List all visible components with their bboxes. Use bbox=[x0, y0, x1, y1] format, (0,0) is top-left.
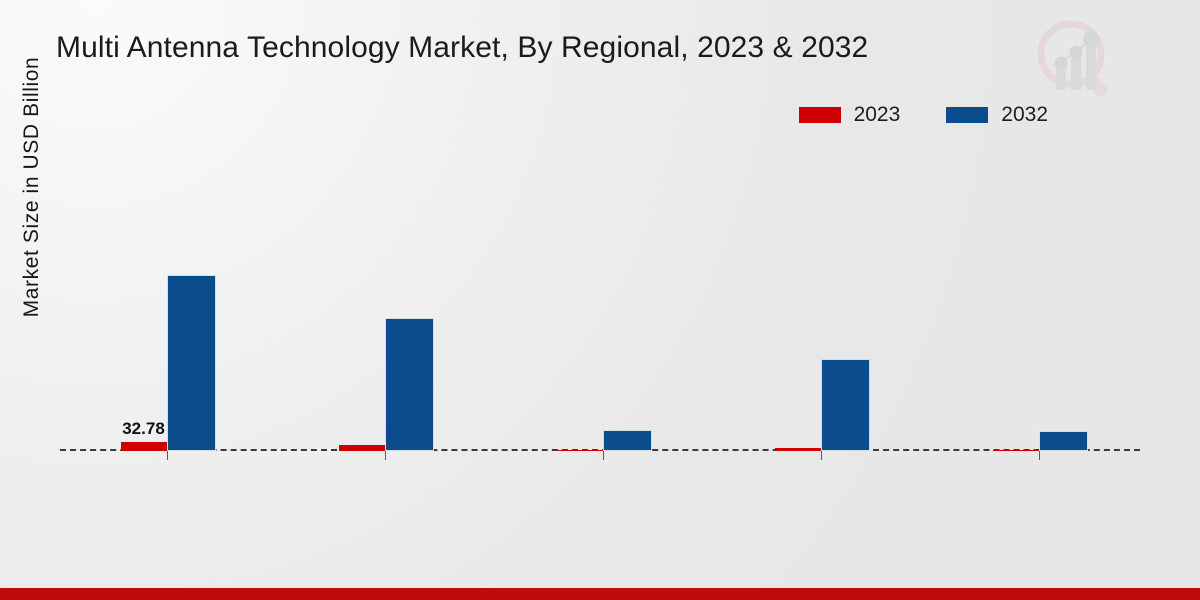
bar-2023-north-america[interactable]: 32.78 bbox=[121, 442, 167, 451]
bar-2032-europe[interactable] bbox=[385, 318, 434, 451]
legend-label-2032: 2032 bbox=[1001, 104, 1048, 125]
bar-2032-asia-pacific[interactable] bbox=[821, 359, 870, 451]
bar-value-label-north-america-2023: 32.78 bbox=[122, 419, 165, 439]
plot-area: 32.78 NORTH AMERICA bbox=[60, 150, 1140, 451]
chart-legend: 2023 2032 bbox=[799, 104, 1048, 125]
bar-group-asia-pacific bbox=[764, 150, 880, 451]
legend-item-2023[interactable]: 2023 bbox=[799, 104, 901, 125]
y-axis-title: Market Size in USD Billion bbox=[20, 0, 44, 387]
legend-item-2032[interactable]: 2032 bbox=[946, 104, 1048, 125]
bar-group-south-america bbox=[546, 150, 662, 451]
legend-label-2023: 2023 bbox=[854, 104, 901, 125]
legend-swatch-2023-icon bbox=[799, 107, 841, 123]
bar-group-europe bbox=[328, 150, 444, 451]
bar-group-middle-east-and-africa bbox=[982, 150, 1098, 451]
bar-2023-south-america[interactable] bbox=[557, 450, 603, 451]
bar-2032-middle-east-and-africa[interactable] bbox=[1039, 431, 1088, 451]
bar-group-north-america: 32.78 bbox=[110, 150, 226, 451]
axis-tick bbox=[1039, 451, 1040, 460]
axis-tick bbox=[167, 451, 168, 460]
axis-tick bbox=[821, 451, 822, 460]
axis-tick bbox=[603, 451, 604, 460]
bar-2032-south-america[interactable] bbox=[603, 430, 652, 451]
bar-2032-north-america[interactable] bbox=[167, 275, 216, 451]
bottom-accent-band bbox=[0, 588, 1200, 600]
bar-2023-asia-pacific[interactable] bbox=[775, 448, 821, 451]
axis-tick bbox=[385, 451, 386, 460]
bar-2023-middle-east-and-africa[interactable] bbox=[993, 450, 1039, 451]
watermark-logo-icon bbox=[1028, 14, 1124, 102]
legend-swatch-2032-icon bbox=[946, 107, 988, 123]
bar-2023-europe[interactable] bbox=[339, 445, 385, 451]
chart-figure: Multi Antenna Technology Market, By Regi… bbox=[0, 0, 1200, 600]
chart-title: Multi Antenna Technology Market, By Regi… bbox=[56, 31, 868, 65]
